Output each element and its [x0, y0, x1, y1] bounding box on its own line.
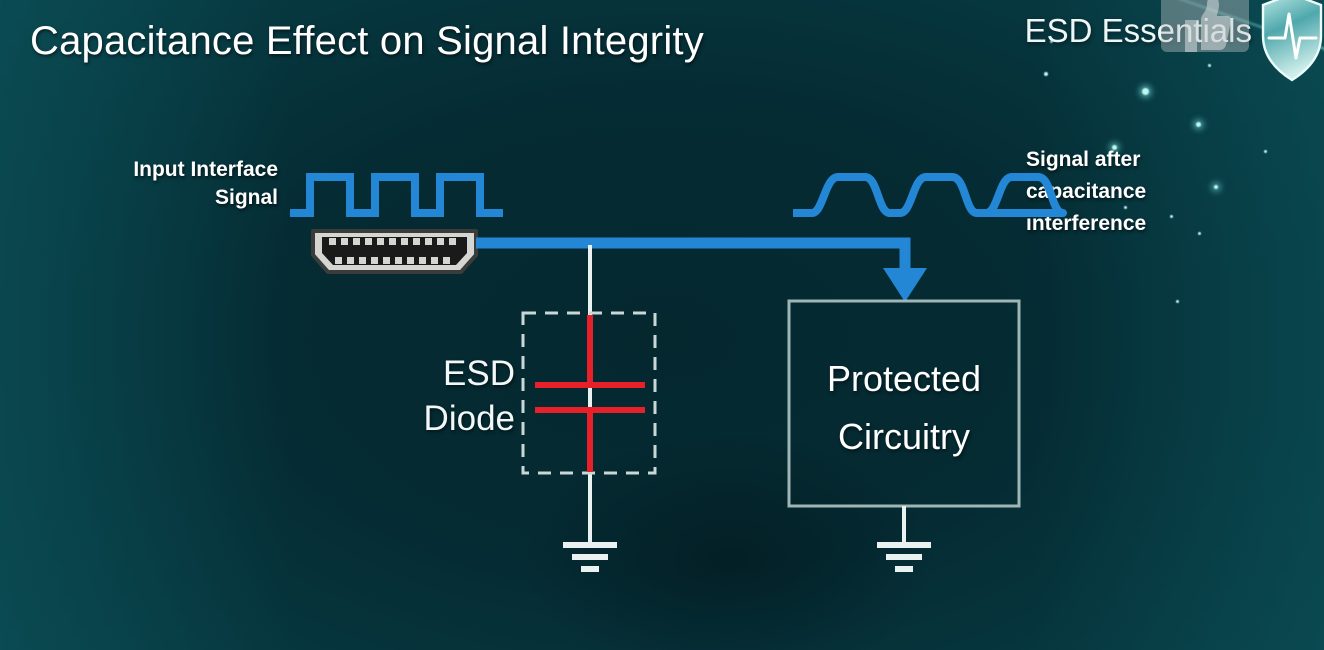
square-wave-icon [290, 177, 503, 213]
ground-icon [563, 545, 617, 569]
signal-trace [476, 243, 905, 272]
protected-circuitry-label-line2: Circuitry [789, 408, 1019, 466]
rounded-wave-icon [793, 177, 1063, 213]
protected-circuitry-label: Protected Circuitry [789, 350, 1019, 465]
protected-circuitry-label-line1: Protected [789, 350, 1019, 408]
hdmi-connector-icon [313, 231, 476, 272]
esd-diode-label-line2: Diode [405, 397, 515, 442]
down-arrow-icon [883, 268, 927, 302]
ground-icon [877, 545, 931, 569]
esd-diode-label-line1: ESD [405, 352, 515, 397]
circuit-schematic [0, 0, 1324, 650]
esd-diode-label: ESD Diode [405, 352, 515, 442]
slide-canvas: Capacitance Effect on Signal Integrity E… [0, 0, 1324, 650]
